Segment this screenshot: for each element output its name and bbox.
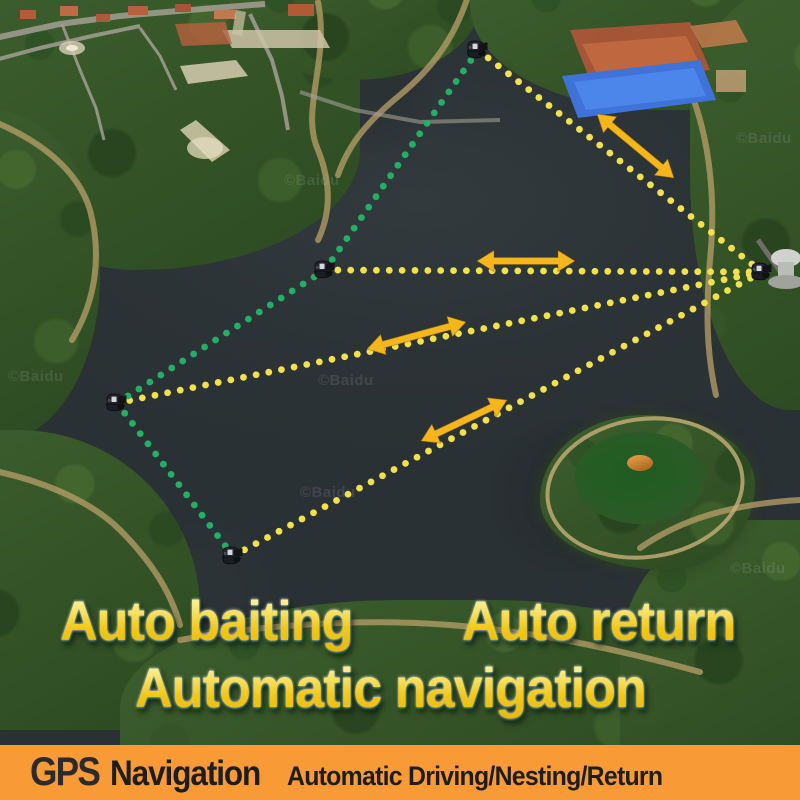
boat-icon[interactable] xyxy=(312,259,338,281)
bottom-banner: GPS Navigation Automatic Driving/Nesting… xyxy=(0,745,800,800)
boat-icon[interactable] xyxy=(104,392,130,414)
headline-auto-baiting: Auto baiting xyxy=(60,588,353,653)
boat-icon[interactable] xyxy=(220,545,246,567)
banner-tagline: Automatic Driving/Nesting/Return xyxy=(287,761,662,792)
banner-content: GPS Navigation Automatic Driving/Nesting… xyxy=(0,750,695,795)
banner-product: Navigation xyxy=(110,754,260,794)
headline-automatic-navigation: Automatic navigation xyxy=(135,655,646,720)
boat-icon[interactable] xyxy=(749,261,775,283)
banner-brand: GPS xyxy=(30,750,99,795)
headline-auto-return: Auto return xyxy=(462,588,735,653)
boat-icon[interactable] xyxy=(465,39,491,61)
promo-image-root: ©Baidu ©Baidu ©Baidu ©Baidu ©Baidu ©Baid… xyxy=(0,0,800,800)
